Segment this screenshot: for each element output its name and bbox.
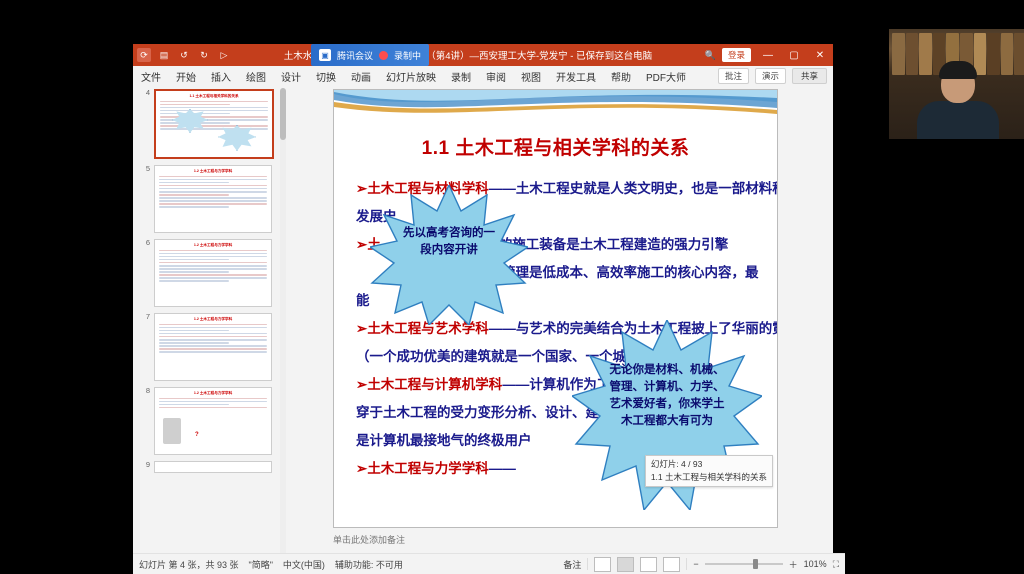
callout-star-1[interactable]: 先以高考咨询的一段内容开讲 [370,185,528,325]
current-slide[interactable]: 1.1 土木工程与相关学科的关系 ➢土木工程与材料学科——土木工程史就是人类文明… [333,89,778,528]
book [987,33,1000,75]
tab-transitions[interactable]: 切换 [314,68,338,85]
redo-icon[interactable]: ↻ [197,48,211,62]
accessibility-status[interactable]: 辅助功能: 不可用 [335,558,403,571]
bullet-dash: —— [502,377,529,392]
tab-file[interactable]: 文件 [139,68,163,85]
bullet-rest: 的施工装备是土木工程建造的强力引擎 [499,237,729,252]
account-pill[interactable]: 登录 [722,48,751,62]
meeting-app-label: 腾讯会议 [337,49,373,62]
tab-insert[interactable]: 插入 [209,68,233,85]
book [919,33,932,75]
tab-design[interactable]: 设计 [279,68,303,85]
minimize-button[interactable]: — [755,44,781,66]
presenter-hair [939,61,977,79]
autosave-icon[interactable]: ⟳ [137,48,151,62]
notes-button[interactable]: 备注 [563,558,581,571]
slide-title: 1.1 土木工程与相关学科的关系 [334,133,777,160]
comments-button[interactable]: 批注 [718,68,749,84]
recording-label: 录制中 [394,49,421,62]
save-icon[interactable]: ▤ [157,48,171,62]
thumbnail-number: 6 [136,239,154,307]
bullet-marker: ➢ [356,237,367,252]
book [1014,33,1024,75]
tab-view[interactable]: 视图 [519,68,543,85]
thumbnail-preview[interactable]: 1.2 土木工程与力学学科 [154,313,272,381]
slide-counter: 幻灯片 第 4 张，共 93 张 [139,558,239,571]
slide-canvas-area: 1.1 土木工程与相关学科的关系 ➢土木工程与材料学科——土木工程史就是人类文明… [288,86,833,574]
book [892,33,905,75]
window-controls[interactable]: 🔍 登录 — ▢ ✕ [705,44,833,66]
thumbnail-title: 1.2 土木工程与力学学科 [155,243,271,248]
present-icon[interactable]: ▷ [217,48,231,62]
thumbnail-slide-4[interactable]: 4 1.1 土木工程与相关学科的关系 [136,89,288,159]
bullet-head: 土木工程与计算机学科 [367,377,502,392]
status-bar-right[interactable]: 备注 − ＋ 101% ⛶ [563,557,839,572]
thumbnail-number: 4 [136,89,154,159]
tab-developer[interactable]: 开发工具 [554,68,598,85]
maximize-button[interactable]: ▢ [781,44,807,66]
bullet-marker: ➢ [356,377,367,392]
zoom-slider-knob[interactable] [753,559,758,569]
title-bar: ⟳ ▤ ↺ ↻ ▷ 土木水利工程数值仿真理论与方法（第4讲）—西安理工大学-党发… [133,44,833,66]
thumbnail-slide-6[interactable]: 6 1.2 土木工程与力学学科 [136,239,288,307]
search-icon[interactable]: 🔍 [705,50,716,61]
thumbnail-title: 1.2 土木工程与力学学科 [155,391,271,396]
theme-name[interactable]: "简略" [249,558,273,571]
thumbnail-title: 1.1 土木工程与相关学科的关系 [156,94,272,99]
meeting-app-icon: ▣ [319,49,331,61]
bullet-head: 土木工程与力学学科 [367,461,489,476]
record-dot-icon [379,51,388,60]
close-button[interactable]: ✕ [807,44,833,66]
thumbnail-preview[interactable]: 1.2 土木工程与力学学科 [154,239,272,307]
book [1001,33,1014,75]
tab-home[interactable]: 开始 [174,68,198,85]
thumbnail-slide-7[interactable]: 7 1.2 土木工程与力学学科 [136,313,288,381]
thumbnail-number: 9 [136,461,154,473]
bullet-dash: —— [489,461,516,476]
thumbnail-slide-9[interactable]: 9 [136,461,288,473]
present-button[interactable]: 演示 [755,68,786,84]
thumbnail-preview[interactable]: 1.2 土木工程与力学学科 ? [154,387,272,455]
thumbnail-preview[interactable]: 1.1 土木工程与相关学科的关系 [154,89,274,159]
undo-icon[interactable]: ↺ [177,48,191,62]
tooltip-line-2: 1.1 土木工程与相关学科的关系 [651,471,767,484]
thumbnail-slide-8[interactable]: 8 1.2 土木工程与力学学科 ? [136,387,288,455]
fit-slide-icon[interactable]: ⛶ [833,559,839,570]
thumbnail-number: 8 [136,387,154,455]
tab-draw[interactable]: 绘图 [244,68,268,85]
tab-help[interactable]: 帮助 [609,68,633,85]
reading-view-button[interactable] [640,557,657,572]
slide-thumbnail-pane[interactable]: 4 1.1 土木工程与相关学科的关系 5 1.2 土木工程与力学学科 [133,86,288,574]
ribbon-tabs[interactable]: 文件 开始 插入 绘图 设计 切换 动画 幻灯片放映 录制 审阅 视图 开发工具… [133,66,833,86]
thumbnail-number: 7 [136,313,154,381]
share-button[interactable]: 共享 [792,68,827,84]
bullet-marker: ➢ [356,181,367,196]
tab-animations[interactable]: 动画 [349,68,373,85]
bullet-rest: 土木工程史就是人类文明史，也是一部材料科学 [516,181,778,196]
language-indicator[interactable]: 中文(中国) [283,558,325,571]
tab-slideshow[interactable]: 幻灯片放映 [384,68,438,85]
thumbnail-scrollbar-track[interactable] [280,88,286,570]
presenter-webcam[interactable] [889,29,1024,139]
slideshow-tooltip: 幻灯片: 4 / 93 1.1 土木工程与相关学科的关系 [645,455,773,487]
book [906,33,919,75]
sorter-view-button[interactable] [617,557,634,572]
workspace: 4 1.1 土木工程与相关学科的关系 5 1.2 土木工程与力学学科 [133,86,833,574]
normal-view-button[interactable] [594,557,611,572]
zoom-slider[interactable] [705,563,783,565]
thumbnail-title: 1.2 土木工程与力学学科 [155,317,271,322]
slide-decoration-swoosh [334,90,777,116]
status-bar: 幻灯片 第 4 张，共 93 张 "简略" 中文(中国) 辅助功能: 不可用 备… [133,553,845,574]
callout-text-2: 无论你是材料、机械、管理、计算机、力学、艺术爱好者，你来学土木工程都大有可为 [572,320,762,430]
tab-record[interactable]: 录制 [449,68,473,85]
bullet-marker: ➢ [356,461,367,476]
quick-access-toolbar[interactable]: ⟳ ▤ ↺ ↻ ▷ [133,48,231,62]
callout-text-1: 先以高考咨询的一段内容开讲 [370,185,528,259]
zoom-in-button[interactable]: ＋ [789,558,798,571]
tab-review[interactable]: 审阅 [484,68,508,85]
screen: ⟳ ▤ ↺ ↻ ▷ 土木水利工程数值仿真理论与方法（第4讲）—西安理工大学-党发… [0,0,1024,574]
window-title: 土木水利工程数值仿真理论与方法（第4讲）—西安理工大学-党发宁 - 已保存到这台… [231,48,705,62]
tab-pdf-master[interactable]: PDF大师 [644,68,688,85]
tooltip-line-1: 幻灯片: 4 / 93 [651,458,767,471]
zoom-out-button[interactable]: − [693,559,698,569]
thumbnail-preview[interactable]: 1.2 土木工程与力学学科 [154,165,272,233]
meeting-toolbar[interactable]: ▣ 腾讯会议 录制中 [311,44,429,66]
powerpoint-window: ⟳ ▤ ↺ ↻ ▷ 土木水利工程数值仿真理论与方法（第4讲）—西安理工大学-党发… [133,44,833,574]
presenter-torso [917,101,999,139]
thumbnail-scrollbar-thumb[interactable] [280,88,286,140]
bullet-rest: 管理是低成本、高效率施工的核心内容，最 [502,265,759,280]
zoom-level: 101% [804,559,827,569]
thumbnail-preview[interactable] [154,461,272,473]
bullet-marker: ➢ [356,321,367,336]
thumbnail-slide-5[interactable]: 5 1.2 土木工程与力学学科 [136,165,288,233]
thumbnail-title: 1.2 土木工程与力学学科 [155,169,271,174]
desktop-background-left [0,0,133,574]
slideshow-view-button[interactable] [663,557,680,572]
notes-placeholder[interactable]: 单击此处添加备注 [333,533,776,546]
thumbnail-number: 5 [136,165,154,233]
